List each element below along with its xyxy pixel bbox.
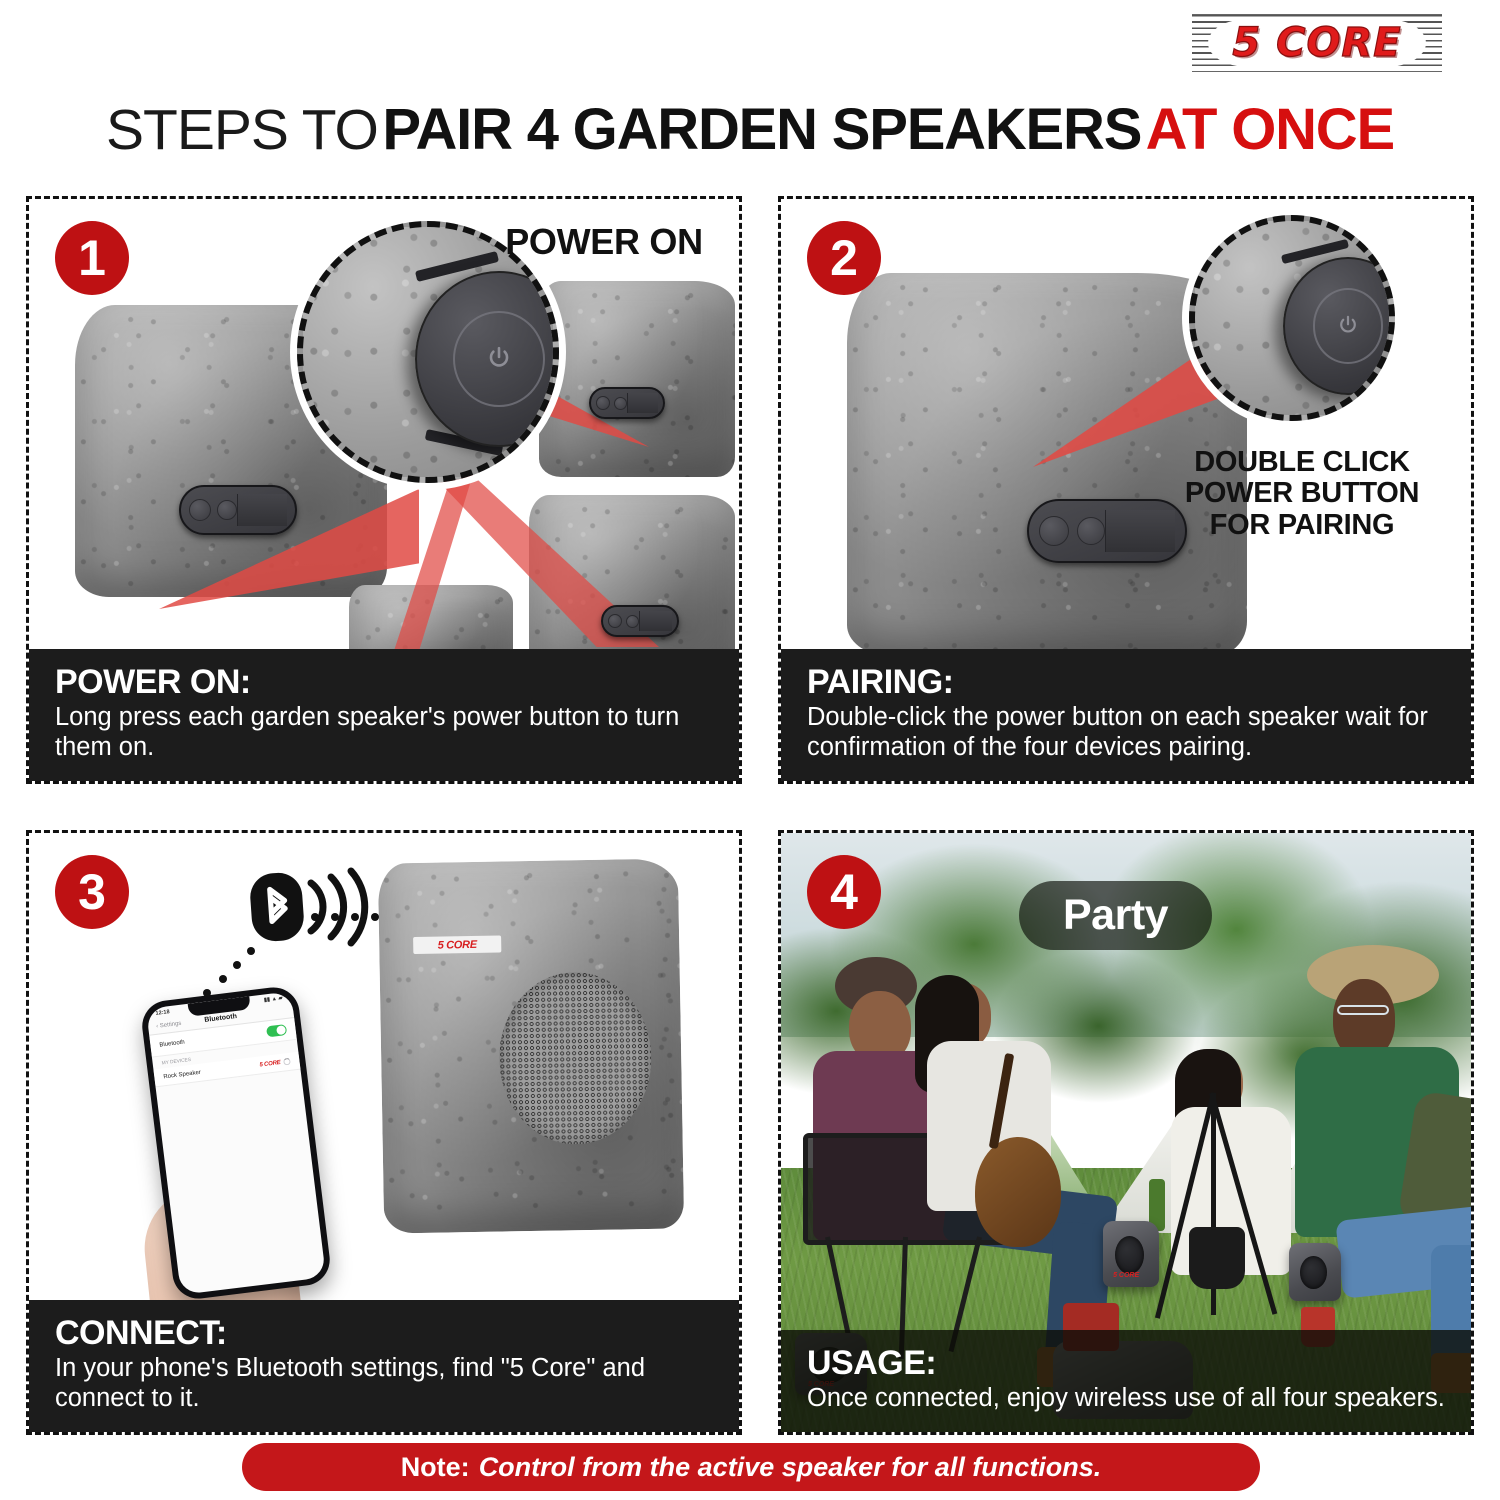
power-button[interactable] [596,396,610,410]
callout-double-click: DOUBLE CLICK POWER BUTTON FOR PAIRING [1177,447,1427,541]
control-slab [1105,510,1175,552]
panel-4-caption: USAGE: Once connected, enjoy wireless us… [781,1330,1471,1432]
party-overlay-label: Party [1019,881,1212,950]
signal-arcs-icon [305,867,379,947]
nav-title: Bluetooth [204,1013,237,1024]
power-button[interactable] [608,614,622,628]
mode-button[interactable] [626,615,639,628]
speaker-grille [1115,1236,1144,1274]
step-number-badge-1: 1 [55,221,129,295]
note-bar: Note: Control from the active speaker fo… [242,1443,1260,1491]
mode-button[interactable] [217,500,237,520]
speaker-brand-badge: 5 CORE [1113,1272,1139,1279]
panel-3-caption: CONNECT: In your phone's Bluetooth setti… [29,1300,739,1432]
rock-speaker-top-right [539,281,735,477]
bluetooth-glyph [249,871,306,942]
note-text: Control from the active speaker for all … [479,1452,1102,1483]
power-button[interactable] [189,499,211,521]
guitar [975,1137,1061,1247]
callout-line-3: FOR PAIRING [1177,510,1427,541]
step-panel-2: 2 DOUBLE CLICK POWER BUTTON FOR PAIRING … [778,196,1474,784]
caption-body: In your phone's Bluetooth settings, find… [55,1354,713,1414]
device-name: Rock Speaker [163,1069,201,1080]
speaker-control-pad[interactable] [1027,499,1187,563]
callout-line-2: POWER BUTTON [1177,478,1427,509]
step-number-badge-4: 4 [807,855,881,929]
caption-body: Long press each garden speaker's power b… [55,703,713,763]
caption-title: POWER ON: [55,663,713,701]
power-button[interactable] [1039,516,1069,546]
panel-1-caption: POWER ON: Long press each garden speaker… [29,649,739,781]
speaker-control-pad[interactable] [601,605,679,637]
step-panel-3: 3 5 CORE 12:18 ▮▮ ▲ [26,830,742,1435]
page-title: STEPS TO PAIR 4 GARDEN SPEAKERS AT ONCE [0,96,1500,163]
bluetooth-row-label: Bluetooth [159,1039,185,1048]
brand-logo-text: 5 CORE [1192,14,1442,72]
speaker-grille [1300,1256,1327,1290]
person-with-guitar [909,969,1089,1229]
control-slab [237,494,287,526]
rock-speaker-photo-right [1289,1243,1341,1301]
title-part-accent: AT ONCE [1146,97,1394,162]
title-part-bold: PAIR 4 GARDEN SPEAKERS [382,97,1141,162]
speaker-grille [498,971,653,1146]
power-icon [486,345,512,371]
title-part-light: STEPS TO [106,98,378,162]
brand-logo: 5 CORE [1192,14,1442,72]
rock-speaker-photo-center: 5 CORE [1103,1221,1159,1287]
caption-body: Double-click the power button on each sp… [807,703,1445,763]
step-panel-1: 1 [26,196,742,784]
note-label: Note: [401,1452,470,1483]
callout-line-1: DOUBLE CLICK [1177,447,1427,478]
panel-2-caption: PAIRING: Double-click the power button o… [781,649,1471,781]
rock-speaker-with-grille: 5 CORE [378,858,684,1233]
mode-button[interactable] [614,397,627,410]
dotted-path-phone-to-bt [203,935,273,995]
control-slab [627,393,658,413]
callout-power-on: POWER ON [469,223,739,262]
device-brand-logo: 5 CORE [259,1059,281,1068]
back-button[interactable]: ‹ Settings [156,1020,182,1029]
caption-title: USAGE: [807,1344,1445,1382]
speaker-control-pad[interactable] [589,387,665,419]
control-slab [639,611,672,631]
step-panel-4: 5 CORE 5 CORE Party USAGE: Once connecte… [778,830,1474,1435]
caption-title: CONNECT: [55,1314,713,1352]
caption-body: Once connected, enjoy wireless use of al… [807,1384,1445,1414]
connecting-spinner-icon [283,1058,291,1066]
phone-screen[interactable]: 12:18 ▮▮ ▲ ▰ ‹ Settings Bluetooth Blueto… [146,991,326,1295]
mode-button[interactable] [1077,517,1105,545]
bluetooth-icon [249,871,306,942]
caption-title: PAIRING: [807,663,1445,701]
step-number-badge-3: 3 [55,855,129,929]
eyeglasses-icon [1337,1005,1389,1015]
power-icon [1337,314,1359,336]
step-number-badge-2: 2 [807,221,881,295]
speaker-control-pad[interactable] [179,485,297,535]
bluetooth-toggle[interactable] [266,1024,287,1037]
magnifier-icon [1189,215,1395,421]
kettle [1189,1227,1245,1289]
speaker-brand-badge: 5 CORE [413,936,501,955]
